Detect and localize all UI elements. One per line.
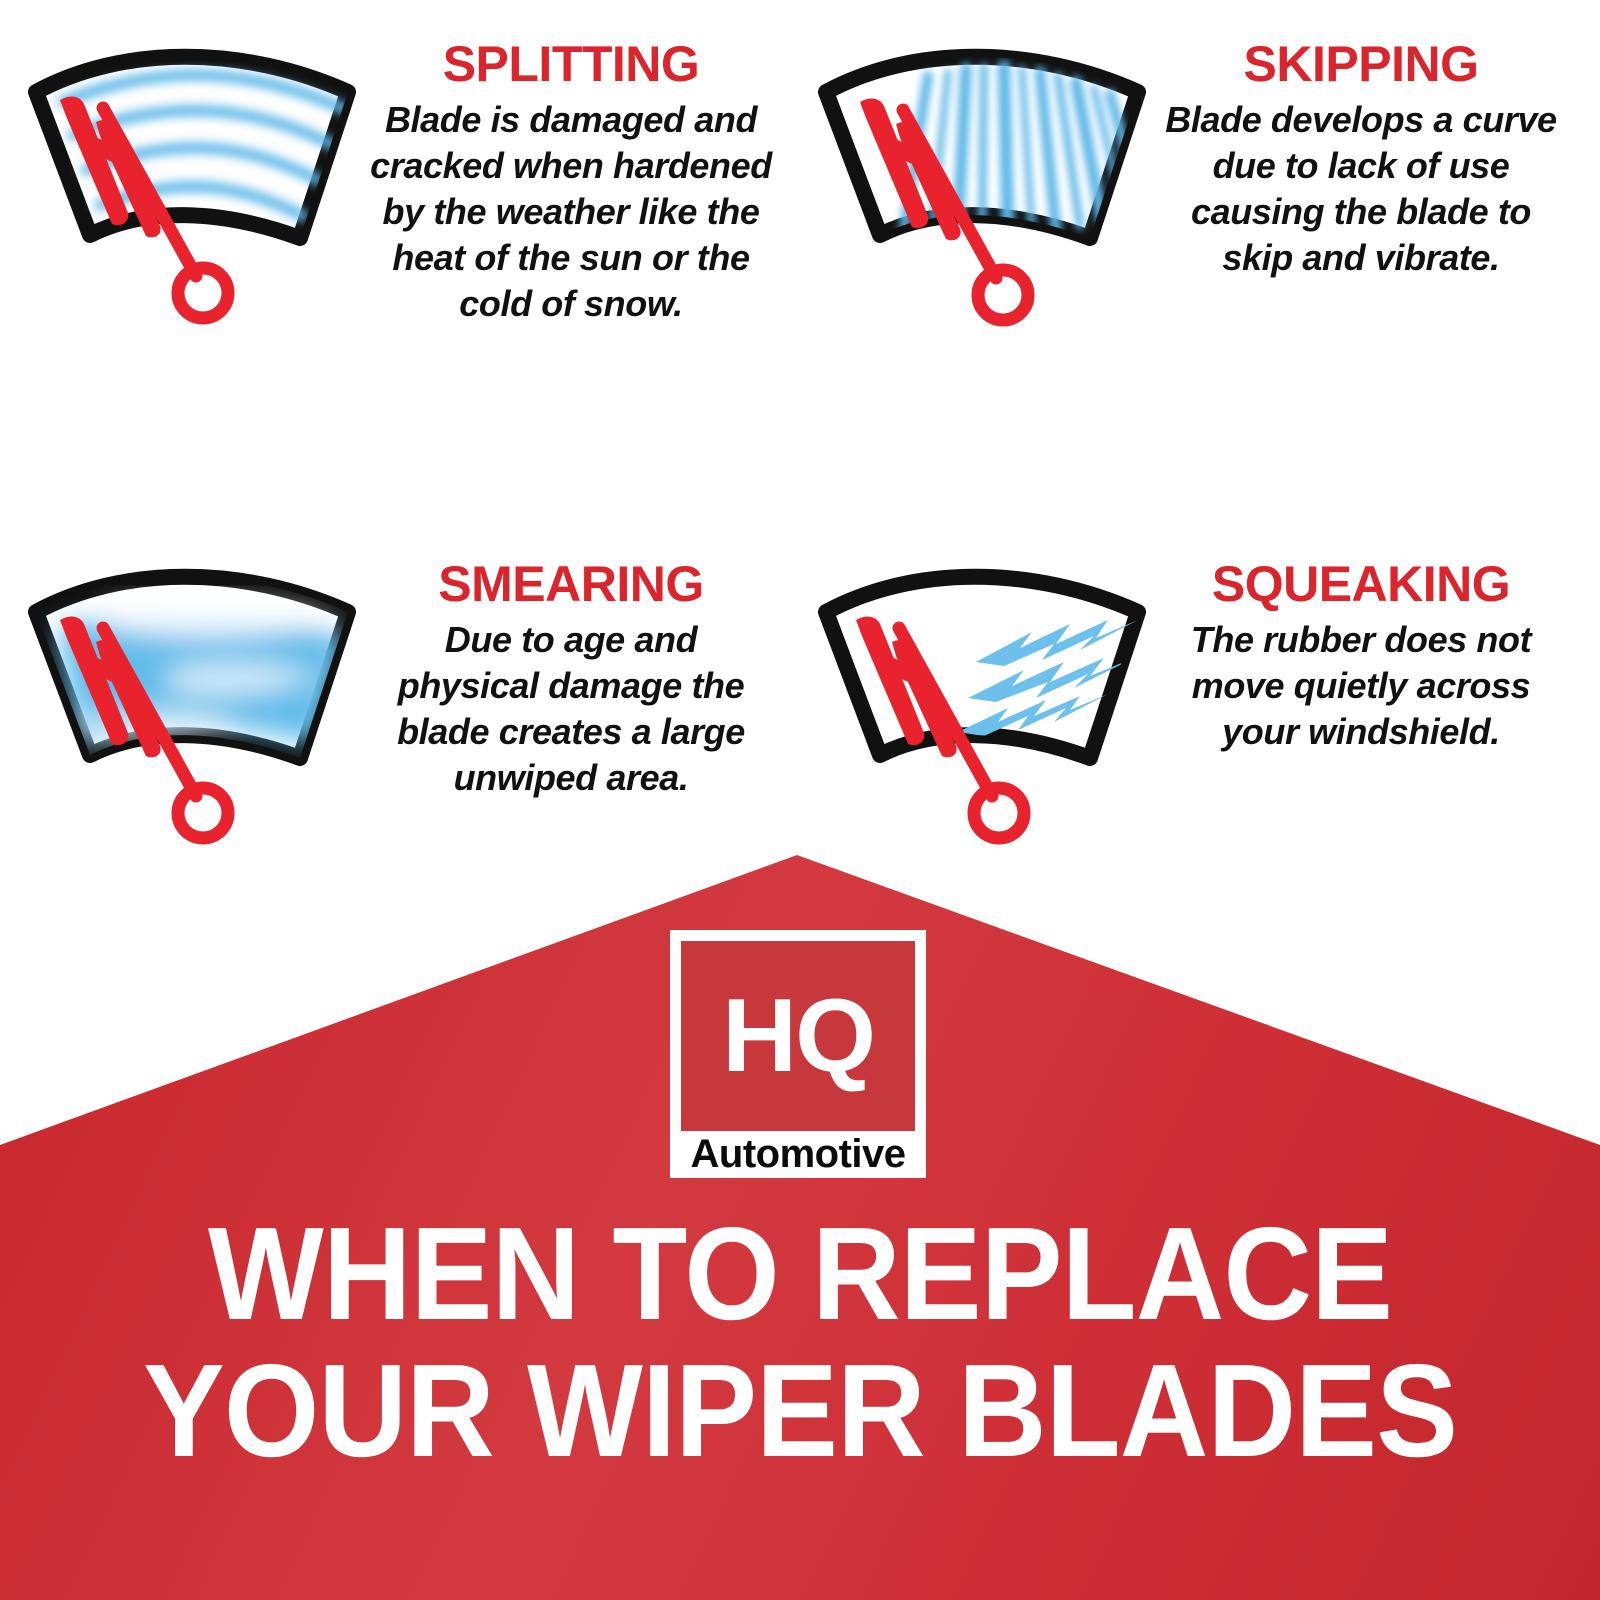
symptom-panels: SPLITTING Blade is damaged and cracked w… [0, 0, 1600, 860]
panel-title: SMEARING [370, 558, 772, 611]
headline: WHEN TO REPLACE YOUR WIPER BLADES [0, 1205, 1600, 1480]
panel-text-smearing: SMEARING Due to age and physical damage … [370, 540, 790, 801]
panel-splitting: SPLITTING Blade is damaged and cracked w… [0, 20, 790, 440]
headline-line-1: WHEN TO REPLACE [56, 1205, 1544, 1342]
windshield-wiper-smearing-icon [0, 540, 370, 850]
panel-title: SQUEAKING [1160, 558, 1562, 611]
panel-text-squeaking: SQUEAKING The rubber does not move quiet… [1160, 540, 1580, 755]
panel-title: SKIPPING [1160, 38, 1562, 91]
panel-smearing: SMEARING Due to age and physical damage … [0, 540, 790, 960]
logo-mark-text: HQ [722, 984, 874, 1088]
windshield-wiper-skipping-icon [790, 20, 1160, 330]
logo-wordmark: Automotive [681, 1131, 915, 1178]
hq-automotive-logo: HQ Automotive [670, 930, 926, 1178]
headline-line-2: YOUR WIPER BLADES [56, 1342, 1544, 1479]
panel-title: SPLITTING [370, 38, 772, 91]
panel-description: Blade is damaged and cracked when harden… [370, 97, 772, 327]
panel-description: Blade develops a curve due to lack of us… [1160, 97, 1562, 281]
panel-text-skipping: SKIPPING Blade develops a curve due to l… [1160, 20, 1580, 281]
panel-skipping: SKIPPING Blade develops a curve due to l… [790, 20, 1580, 440]
panel-description: The rubber does not move quietly across … [1160, 617, 1562, 755]
windshield-wiper-squeaking-icon [790, 540, 1160, 850]
windshield-wiper-splitting-icon [0, 20, 370, 330]
panel-description: Due to age and physical damage the blade… [370, 617, 772, 801]
logo-mark-panel: HQ [681, 941, 915, 1131]
panel-text-splitting: SPLITTING Blade is damaged and cracked w… [370, 20, 790, 327]
